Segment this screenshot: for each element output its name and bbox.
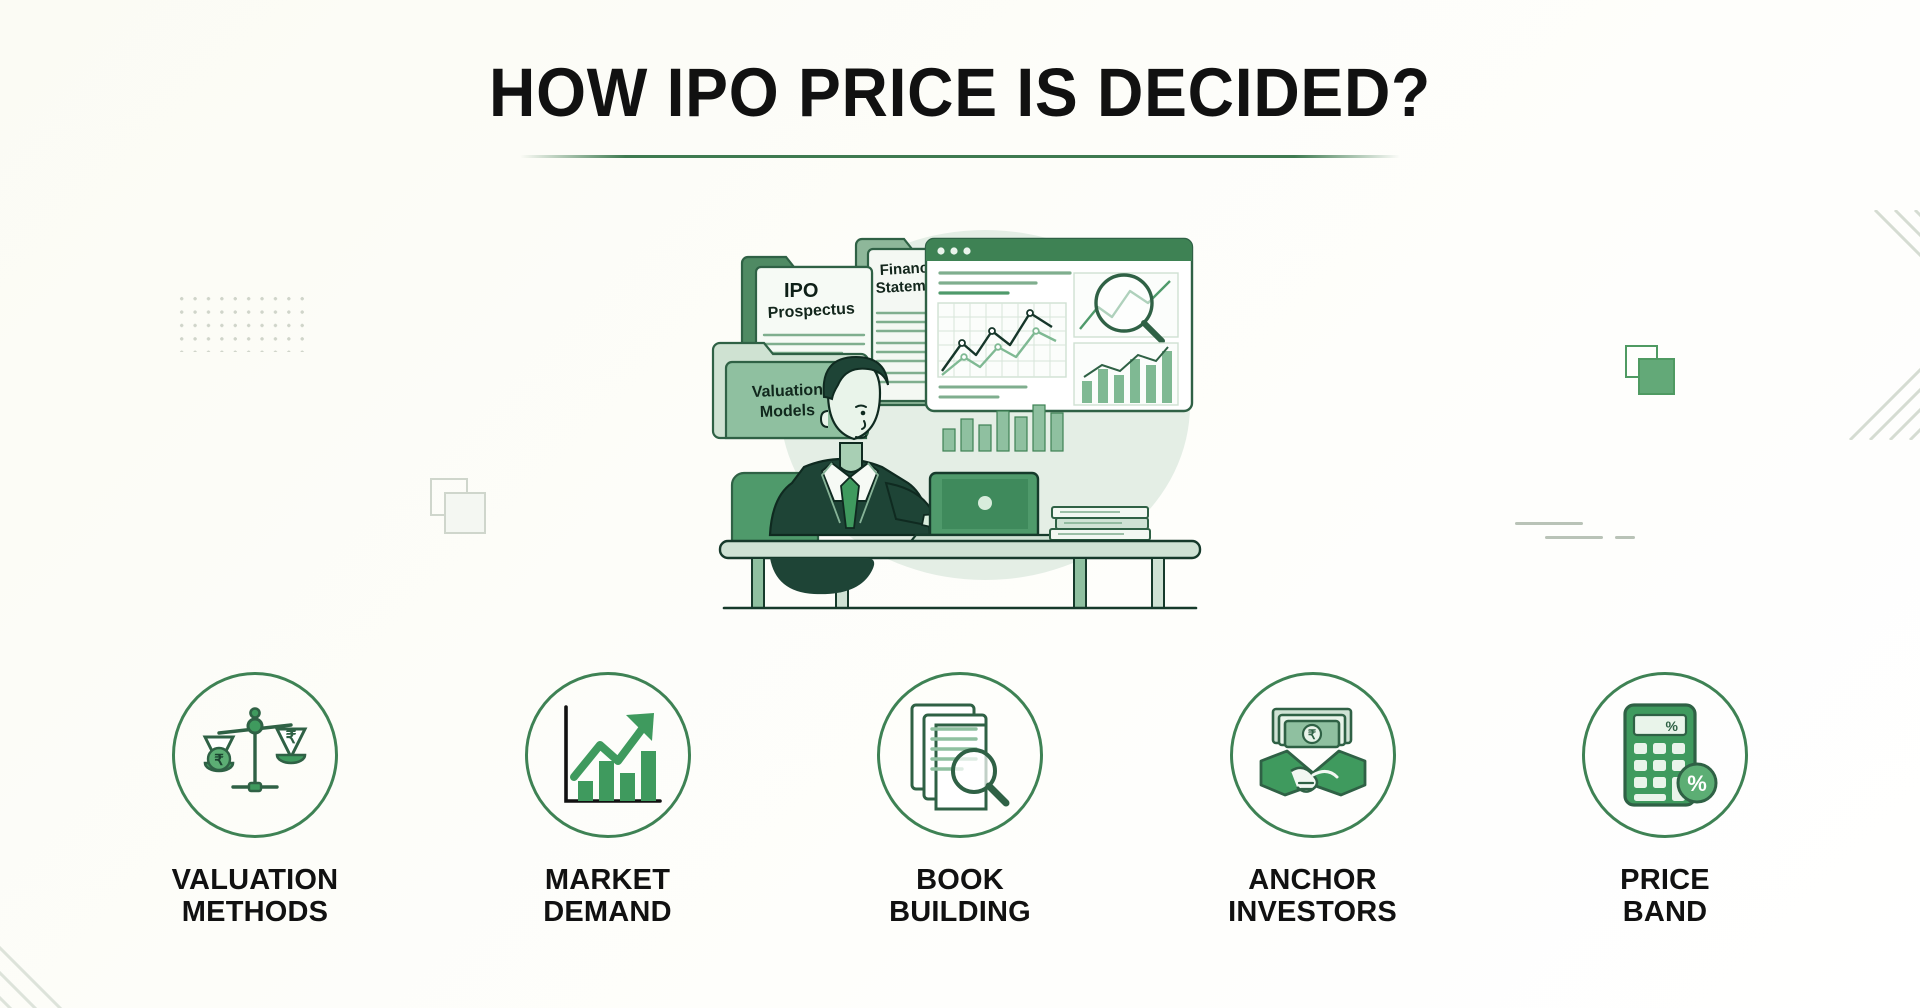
price-band-icon-circle[interactable]: % %: [1582, 672, 1748, 838]
dash-line-decoration: [1515, 520, 1635, 546]
svg-text:Models: Models: [760, 402, 816, 421]
green-square-pair-decoration: [1625, 345, 1658, 378]
handshake-money-icon: ₹: [1257, 699, 1369, 811]
documents-magnifier-icon: [904, 699, 1016, 811]
bar-chart-right-panel: [1074, 343, 1178, 405]
factor-valuation-methods[interactable]: ₹ ₹ VALUATION METHODS: [130, 672, 380, 929]
svg-text:%: %: [1666, 718, 1679, 734]
factor-label: ANCHOR INVESTORS: [1228, 864, 1397, 929]
page-title: HOW IPO PRICE IS DECIDED?: [67, 58, 1853, 127]
market-demand-icon-circle[interactable]: [525, 672, 691, 838]
valuation-methods-icon-circle[interactable]: ₹ ₹: [172, 672, 338, 838]
svg-text:₹: ₹: [214, 752, 224, 769]
magnifier-chart-panel: [1074, 273, 1178, 341]
balance-scale-rupee-icon: ₹ ₹: [199, 699, 311, 811]
window-dots: [937, 247, 970, 254]
line-chart-panel: [938, 303, 1066, 377]
outlined-square-pair-decoration: [430, 478, 468, 516]
factor-market-demand[interactable]: MARKET DEMAND: [483, 672, 733, 929]
factor-label: BOOK BUILDING: [889, 864, 1031, 929]
book-building-icon-circle[interactable]: [877, 672, 1043, 838]
factors-row: ₹ ₹ VALUATION METHODS: [130, 672, 1790, 929]
dot-grid-decoration: [175, 292, 307, 352]
calculator-percent-icon: % %: [1609, 699, 1721, 811]
svg-text:Valuation: Valuation: [752, 382, 824, 401]
factor-book-building[interactable]: BOOK BUILDING: [835, 672, 1085, 929]
title-block: HOW IPO PRICE IS DECIDED?: [0, 58, 1920, 158]
hero-illustration: Financial Statements IPO Prospectus: [700, 215, 1220, 615]
anchor-investors-icon-circle[interactable]: ₹: [1230, 672, 1396, 838]
factor-label: MARKET DEMAND: [543, 864, 671, 929]
book-stack: [1050, 507, 1150, 540]
bar-chart-growth-arrow-icon: [552, 699, 664, 811]
svg-text:%: %: [1687, 771, 1707, 796]
factor-anchor-investors[interactable]: ₹ ANCHOR INVESTORS: [1188, 672, 1438, 929]
title-divider: [520, 155, 1400, 158]
svg-text:IPO: IPO: [784, 280, 818, 302]
analytics-dashboard-screen: [926, 239, 1192, 411]
factor-label: VALUATION METHODS: [172, 864, 339, 929]
infographic-canvas: HOW IPO PRICE IS DECIDED? Financial Stat…: [0, 0, 1920, 1008]
factor-label: PRICE BAND: [1620, 864, 1710, 929]
factor-price-band[interactable]: % % P: [1540, 672, 1790, 929]
svg-text:₹: ₹: [286, 728, 297, 747]
svg-text:₹: ₹: [1307, 727, 1316, 742]
diagonal-stripes-top-right-icon: [1780, 210, 1920, 440]
